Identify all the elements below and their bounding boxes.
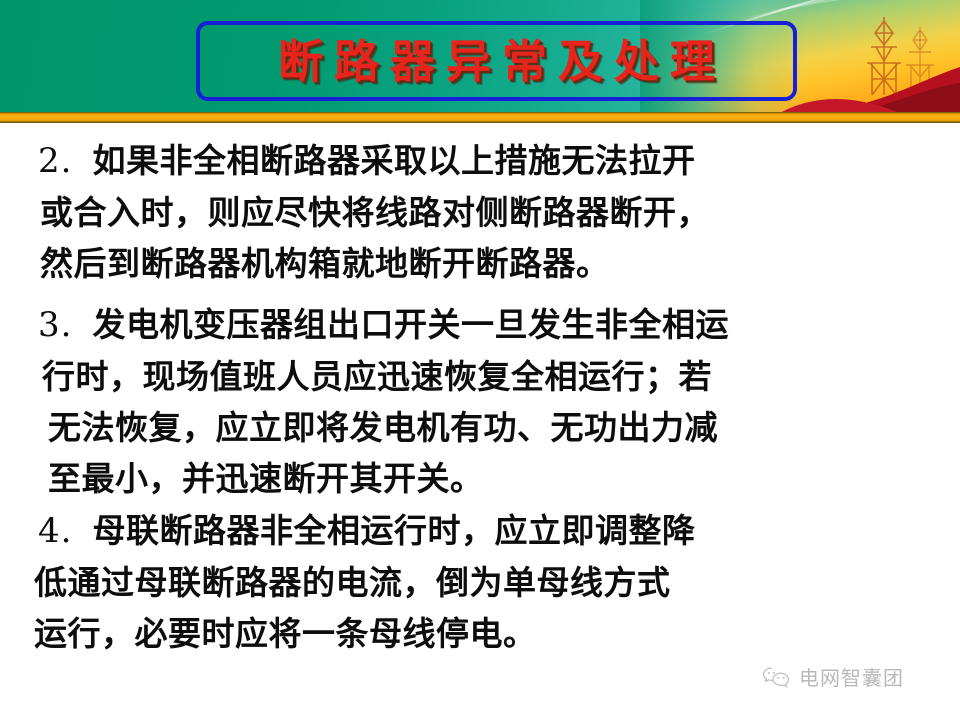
paragraph-4-number: 4. <box>38 511 72 551</box>
paragraph-2-line-1: 2.如果非全相断路器采取以上措施无法拉开 <box>38 135 710 187</box>
paragraph-3-line-2: 行时，现场值班人员应迅速恢复全相运行；若 <box>42 351 729 402</box>
slide-body: 2.如果非全相断路器采取以上措施无法拉开 或合入时，则应尽快将线路对侧断路器断开… <box>0 123 960 720</box>
page-title: 断路器异常及处理 <box>267 39 726 84</box>
paragraph-2: 2.如果非全相断路器采取以上措施无法拉开 或合入时，则应尽快将线路对侧断路器断开… <box>38 135 710 289</box>
paragraph-3-line-1: 3.发电机变压器组出口开关一旦发生非全相运 <box>38 299 729 351</box>
paragraph-2-line-3: 然后到断路器机构箱就地断开断路器。 <box>40 238 710 289</box>
slide-title-box: 断路器异常及处理 <box>196 21 797 101</box>
paragraph-4-line-1-text: 母联断路器非全相运行时，应立即调整降 <box>92 511 695 550</box>
paragraph-4-line-3: 运行，必要时应将一条母线停电。 <box>34 608 695 659</box>
paragraph-3-line-1-text: 发电机变压器组出口开关一旦发生非全相运 <box>92 305 729 344</box>
wechat-bubbles-icon <box>762 665 792 689</box>
watermark-label: 电网智囊团 <box>799 662 904 691</box>
paragraph-4: 4.母联断路器非全相运行时，应立即调整降 低通过母联断路器的电流，倒为单母线方式… <box>38 505 695 659</box>
paragraph-3-line-3: 无法恢复，应立即将发电机有功、无功出力减 <box>48 402 729 453</box>
paragraph-2-line-1-text: 如果非全相断路器采取以上措施无法拉开 <box>92 141 695 180</box>
paragraph-3-line-4: 至最小，并迅速断开其开关。 <box>48 453 729 504</box>
paragraph-3: 3.发电机变压器组出口开关一旦发生非全相运 行时，现场值班人员应迅速恢复全相运行… <box>38 299 729 504</box>
watermark: 电网智囊团 <box>762 662 904 691</box>
slide-header-banner: 断路器异常及处理 <box>0 0 960 113</box>
paragraph-4-line-2: 低通过母联断路器的电流，倒为单母线方式 <box>34 557 695 608</box>
paragraph-3-number: 3. <box>38 305 72 345</box>
slide-root: 断路器异常及处理 2.如果非全相断路器采取以上措施无法拉开 或合入时，则应尽快将… <box>0 0 960 720</box>
paragraph-2-line-2: 或合入时，则应尽快将线路对侧断路器断开， <box>40 187 710 238</box>
gold-divider-bar <box>0 112 960 123</box>
paragraph-2-number: 2. <box>38 141 72 181</box>
paragraph-4-line-1: 4.母联断路器非全相运行时，应立即调整降 <box>38 505 695 557</box>
